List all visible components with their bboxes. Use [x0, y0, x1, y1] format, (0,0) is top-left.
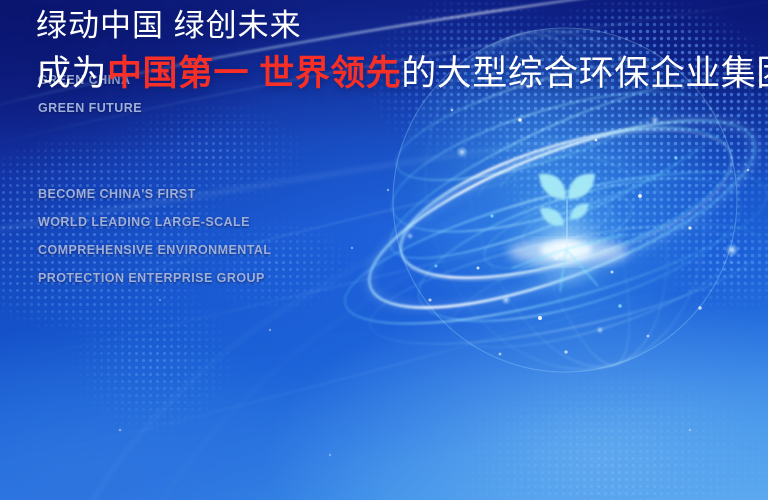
hero-banner: GREEN CHINA GREEN FUTURE BECOME CHINA'S … [0, 0, 768, 500]
eyebrow-line-2: GREEN FUTURE [38, 94, 142, 122]
statement-line-4: PROTECTION ENTERPRISE GROUP [38, 264, 271, 292]
headline-line-2: 成为中国第一 世界领先的大型综合环保企业集团 [36, 45, 768, 96]
headline-prefix: 成为 [36, 54, 107, 93]
statement-line-3: COMPREHENSIVE ENVIRONMENTAL [38, 236, 271, 264]
headline-suffix: 的大型综合环保企业集团 [401, 54, 768, 93]
seedling-sprout-icon [521, 168, 613, 264]
statement-line-1: BECOME CHINA'S FIRST [38, 180, 271, 208]
headline-line-1: 绿动中国 绿创未来 [36, 0, 768, 45]
statement-text-block: BECOME CHINA'S FIRST WORLD LEADING LARGE… [38, 180, 271, 292]
statement-line-2: WORLD LEADING LARGE-SCALE [38, 208, 271, 236]
headline-block: 绿动中国 绿创未来 成为中国第一 世界领先的大型综合环保企业集团 [36, 0, 768, 96]
headline-highlight: 中国第一 世界领先 [107, 54, 401, 93]
